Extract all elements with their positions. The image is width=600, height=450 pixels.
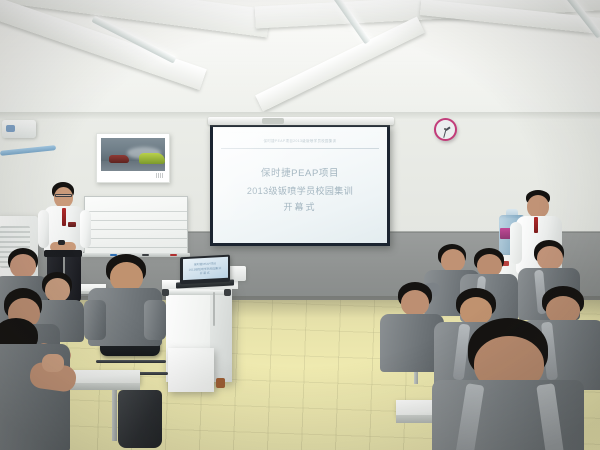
poster-car-green	[139, 153, 165, 164]
slide-header-text: 保时捷PEAP项目2013级钣喷学员校园集训	[213, 138, 387, 143]
whiteboard	[84, 196, 188, 256]
laptop-slide: 保时捷PEAP项目 2013级钣喷学员校园集训 开幕式	[183, 261, 228, 277]
podium-rail	[164, 290, 226, 295]
glasses-icon	[55, 194, 72, 197]
slide-divider	[221, 148, 379, 149]
presenter-arm-right	[80, 210, 91, 248]
classroom-photo: 保时捷PEAP项目2013级钣喷学员校园集训 保时捷PEAP项目 2013级钣喷…	[0, 0, 600, 450]
student-writing	[0, 340, 82, 450]
wall-poster	[96, 133, 170, 183]
podium-caster	[216, 378, 225, 388]
slide-line-2: 2013级钣喷学员校园集训	[213, 183, 387, 200]
whiteboard-ruled-lines	[85, 203, 187, 255]
presenter-right-head	[527, 195, 549, 218]
ceiling-beam	[255, 16, 425, 111]
presenter-head	[54, 187, 73, 208]
presenter-arm-left	[38, 210, 49, 248]
student-head	[401, 290, 429, 316]
whiteboard-marker-red	[170, 254, 177, 256]
slide-body: 保时捷PEAP项目 2013级钣喷学员校园集训 开幕式	[213, 165, 387, 216]
podium-rail-cap-left	[162, 289, 169, 296]
podium-cable	[213, 292, 215, 326]
poster-image	[101, 138, 165, 171]
desk-leg	[112, 389, 117, 441]
ceiling	[0, 0, 600, 118]
clock-minute-hand	[443, 130, 446, 138]
laptop-screen: 保时捷PEAP项目 2013级钣喷学员校园集训 开幕式	[183, 257, 228, 280]
student-hand	[42, 354, 64, 372]
wall-mounted-device	[2, 120, 36, 138]
chair-rail	[96, 360, 166, 363]
slide-line-3: 开幕式	[213, 199, 387, 216]
poster-brand-mark	[156, 173, 164, 178]
student-arm-left	[84, 300, 106, 340]
student-head	[10, 254, 36, 278]
student-foreground	[438, 318, 578, 450]
projection-screen: 保时捷PEAP项目2013级钣喷学员校园集训 保时捷PEAP项目 2013级钣喷…	[210, 124, 390, 246]
student-head	[537, 246, 563, 270]
presenter-tie	[62, 208, 66, 226]
roller-knob	[262, 118, 284, 124]
laptop[interactable]: 保时捷PEAP项目 2013级钣喷学员校园集训 开幕式	[180, 255, 230, 285]
poster-car-red	[109, 155, 129, 163]
backpack	[118, 390, 162, 448]
podium-lower-shelf	[168, 348, 214, 392]
device-indicator	[6, 125, 15, 132]
presenter-watch	[58, 240, 65, 245]
podium-rail-cap-right	[224, 289, 231, 296]
student-arm-right	[144, 300, 166, 340]
student	[86, 254, 162, 346]
projection-screen-roller	[208, 117, 394, 125]
presenter-right-tie	[534, 217, 538, 233]
projection-screen-surface: 保时捷PEAP项目2013级钣喷学员校园集训 保时捷PEAP项目 2013级钣喷…	[213, 127, 387, 243]
presenter-badge	[68, 222, 76, 227]
wall-clock-icon	[434, 118, 457, 141]
slide-line-1: 保时捷PEAP项目	[213, 165, 387, 183]
